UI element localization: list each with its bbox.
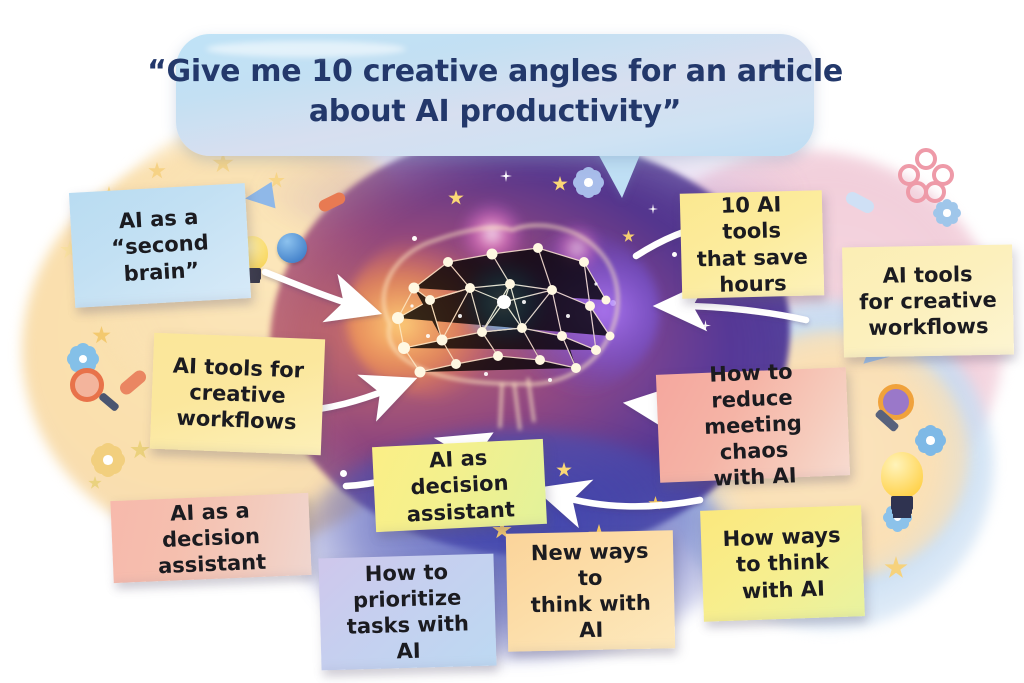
note-line: How to reduce [667, 357, 835, 416]
sticky-note-ai-tools-creative-workflows-right[interactable]: AI tools for creative workflows [842, 245, 1014, 358]
note-line: hours [694, 269, 813, 298]
note-line: to think [723, 548, 842, 578]
sticky-note-ai-as-decision-assistant-green[interactable]: AI as decision assistant [372, 439, 547, 532]
sticky-note-ai-decision-assistant-pink[interactable]: AI as a decision assistant [110, 493, 311, 583]
magnifier-icon-left [66, 366, 122, 422]
note-line: think with [519, 590, 663, 619]
note-line: AI [520, 616, 664, 645]
sticky-note-second-brain[interactable]: AI as a “second brain” [69, 183, 251, 308]
note-line: AI tools [859, 261, 997, 289]
neural-network-brain [352, 196, 652, 446]
dot-confetti [672, 252, 677, 257]
sticky-note-reduce-meeting-chaos[interactable]: How to reduce meeting chaos with AI [656, 367, 850, 483]
lightbulb-icon-right [876, 452, 928, 520]
note-line: that save [693, 243, 812, 272]
magnifier-icon-right [872, 382, 932, 442]
note-line: 10 AI tools [692, 191, 811, 246]
prompt-line-2: about AI productivity” [309, 92, 681, 132]
speech-bubble-tail [596, 150, 642, 198]
sticky-note-10-ai-tools[interactable]: 10 AI tools that save hours [680, 190, 825, 298]
note-line: with AI [724, 574, 843, 604]
note-line: brain” [112, 256, 211, 287]
dot-confetti [340, 470, 347, 477]
note-line: How ways [722, 522, 841, 552]
prompt-speech-bubble[interactable]: “Give me 10 creative angles for an artic… [176, 34, 814, 156]
note-line: workflows [859, 313, 997, 341]
note-line: tasks with AI [332, 610, 484, 666]
sticky-note-new-ways-to-think[interactable]: New ways to think with AI [506, 530, 675, 651]
note-line: workflows [170, 404, 302, 435]
note-line: AI as a decision [122, 495, 298, 554]
pushpin-icon [277, 233, 307, 263]
note-line: for creative [859, 287, 997, 315]
gear-icon-right-upper [938, 204, 956, 222]
note-line: meeting chaos [670, 409, 838, 468]
canvas-root: “Give me 10 creative angles for an artic… [0, 0, 1024, 683]
sticky-note-prioritize-tasks[interactable]: How to prioritize tasks with AI [318, 554, 496, 671]
flower-icon [898, 148, 954, 204]
note-line: AI as decision [384, 443, 533, 502]
note-line: New ways to [518, 537, 662, 592]
sticky-note-how-ways-to-think[interactable]: How ways to think with AI [700, 505, 865, 622]
prompt-line-1: “Give me 10 creative angles for an artic… [147, 52, 843, 92]
gear-icon-left-lower [96, 448, 120, 472]
sticky-note-ai-tools-creative-workflows-left[interactable]: AI tools for creative workflows [150, 333, 325, 455]
